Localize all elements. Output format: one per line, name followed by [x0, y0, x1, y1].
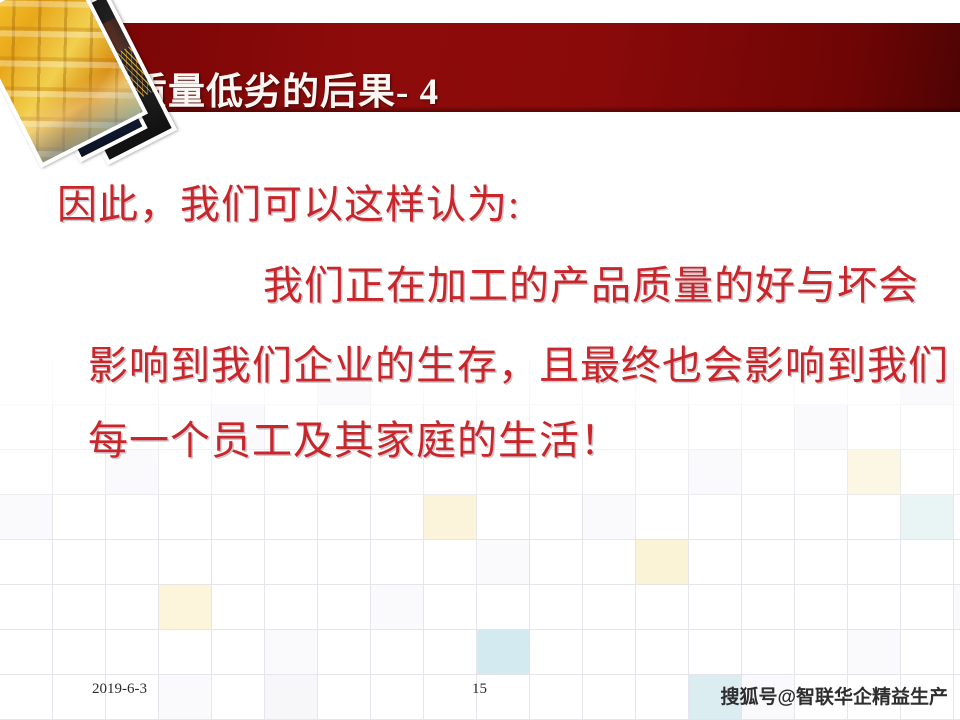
mosaic-cell [795, 135, 848, 180]
body-line-4: 每一个员工及其家庭的生活！ [88, 408, 621, 466]
mosaic-cell [530, 495, 583, 540]
mosaic-cell [159, 585, 212, 630]
mosaic-cell [159, 540, 212, 585]
mosaic-cell [689, 495, 742, 540]
mosaic-cell [689, 540, 742, 585]
mosaic-cell [0, 585, 53, 630]
mosaic-cell [901, 135, 954, 180]
mosaic-cell [106, 270, 159, 315]
mosaic-cell [954, 540, 960, 585]
body-line-1: 因此，我们可以这样认为: [57, 172, 520, 230]
mosaic-cell [159, 270, 212, 315]
mosaic-cell [742, 135, 795, 180]
mosaic-cell [0, 270, 53, 315]
mosaic-cell [424, 675, 477, 720]
mosaic-cell [954, 135, 960, 180]
mosaic-cell [795, 540, 848, 585]
photo-collage-decoration [0, 0, 204, 160]
mosaic-cell [689, 135, 742, 180]
mosaic-cell [530, 135, 583, 180]
mosaic-cell [0, 495, 53, 540]
mosaic-cell [318, 495, 371, 540]
mosaic-cell [371, 630, 424, 675]
mosaic-cell [212, 495, 265, 540]
mosaic-cell [848, 135, 901, 180]
mosaic-cell [424, 630, 477, 675]
mosaic-cell [583, 540, 636, 585]
mosaic-cell [106, 630, 159, 675]
mosaic-cell [954, 630, 960, 675]
mosaic-cell [742, 180, 795, 225]
mosaic-cell [106, 225, 159, 270]
mosaic-cell [689, 405, 742, 450]
mosaic-cell [106, 585, 159, 630]
body-line-3: 影响到我们企业的生存，且最终也会影响到我们 [88, 333, 949, 391]
mosaic-cell [318, 540, 371, 585]
mosaic-cell [795, 630, 848, 675]
mosaic-cell [0, 405, 53, 450]
mosaic-cell [954, 495, 960, 540]
mosaic-cell [530, 675, 583, 720]
mosaic-cell [53, 540, 106, 585]
mosaic-cell [53, 495, 106, 540]
mosaic-cell [0, 630, 53, 675]
mosaic-cell [212, 225, 265, 270]
mosaic-cell [53, 270, 106, 315]
mosaic-cell [530, 540, 583, 585]
mosaic-cell [848, 450, 901, 495]
mosaic-cell [371, 495, 424, 540]
mosaic-cell [371, 585, 424, 630]
mosaic-cell [795, 585, 848, 630]
mosaic-cell [530, 630, 583, 675]
mosaic-cell [212, 585, 265, 630]
mosaic-cell [795, 495, 848, 540]
mosaic-cell [583, 135, 636, 180]
mosaic-cell [636, 180, 689, 225]
mosaic-cell [901, 180, 954, 225]
mosaic-cell [901, 630, 954, 675]
mosaic-cell [371, 675, 424, 720]
mosaic-cell [689, 450, 742, 495]
mosaic-cell [954, 270, 960, 315]
mosaic-cell [636, 405, 689, 450]
mosaic-cell [106, 540, 159, 585]
mosaic-cell [53, 585, 106, 630]
mosaic-cell [954, 405, 960, 450]
mosaic-cell [212, 270, 265, 315]
mosaic-cell [265, 495, 318, 540]
mosaic-cell [636, 450, 689, 495]
mosaic-cell [159, 225, 212, 270]
footer-date: 2019-6-3 [92, 681, 147, 698]
mosaic-cell [636, 135, 689, 180]
mosaic-cell [106, 495, 159, 540]
mosaic-cell [742, 630, 795, 675]
mosaic-cell [742, 585, 795, 630]
mosaic-cell [954, 180, 960, 225]
mosaic-cell [901, 585, 954, 630]
mosaic-cell [159, 495, 212, 540]
mosaic-cell [954, 675, 960, 720]
watermark-text: 搜狐号@智联华企精益生产 [720, 682, 948, 709]
mosaic-cell [159, 630, 212, 675]
mosaic-cell [212, 540, 265, 585]
footer-page-number: 15 [472, 681, 487, 698]
mosaic-cell [477, 540, 530, 585]
mosaic-cell [265, 675, 318, 720]
mosaic-cell [424, 540, 477, 585]
mosaic-cell [53, 225, 106, 270]
mosaic-cell [742, 450, 795, 495]
mosaic-cell [0, 315, 53, 360]
mosaic-cell [0, 450, 53, 495]
mosaic-cell [954, 225, 960, 270]
mosaic-cell [689, 585, 742, 630]
slide-root: 质量低劣的后果- 4 因此，我们可以这样认为: 我们正在加工的产品质量的好与坏会… [0, 0, 960, 720]
mosaic-cell [848, 180, 901, 225]
mosaic-cell [636, 675, 689, 720]
mosaic-cell [848, 495, 901, 540]
mosaic-cell [689, 180, 742, 225]
mosaic-cell [212, 630, 265, 675]
mosaic-cell [530, 585, 583, 630]
mosaic-cell [954, 360, 960, 405]
mosaic-cell [212, 675, 265, 720]
mosaic-cell [901, 495, 954, 540]
mosaic-cell [848, 405, 901, 450]
mosaic-cell [636, 630, 689, 675]
mosaic-cell [901, 450, 954, 495]
mosaic-cell [159, 675, 212, 720]
mosaic-cell [954, 585, 960, 630]
mosaic-cell [0, 180, 53, 225]
mosaic-cell [0, 225, 53, 270]
mosaic-cell [318, 675, 371, 720]
mosaic-cell [318, 585, 371, 630]
body-line-2: 我们正在加工的产品质量的好与坏会 [263, 253, 919, 311]
mosaic-cell [583, 585, 636, 630]
mosaic-cell [265, 585, 318, 630]
mosaic-cell [583, 675, 636, 720]
mosaic-cell [848, 585, 901, 630]
mosaic-cell [477, 585, 530, 630]
mosaic-cell [477, 495, 530, 540]
mosaic-cell [530, 180, 583, 225]
mosaic-cell [742, 495, 795, 540]
mosaic-cell [583, 180, 636, 225]
mosaic-cell [0, 360, 53, 405]
mosaic-cell [265, 540, 318, 585]
mosaic-cell [901, 405, 954, 450]
mosaic-cell [583, 630, 636, 675]
mosaic-cell [795, 405, 848, 450]
mosaic-cell [954, 450, 960, 495]
mosaic-cell [742, 405, 795, 450]
mosaic-cell [318, 630, 371, 675]
mosaic-cell [689, 630, 742, 675]
mosaic-cell [424, 585, 477, 630]
mosaic-cell [0, 675, 53, 720]
mosaic-cell [848, 540, 901, 585]
mosaic-cell [742, 540, 795, 585]
mosaic-cell [0, 540, 53, 585]
mosaic-cell [583, 495, 636, 540]
mosaic-cell [636, 585, 689, 630]
mosaic-cell [954, 315, 960, 360]
mosaic-cell [424, 495, 477, 540]
mosaic-cell [636, 495, 689, 540]
mosaic-cell [848, 630, 901, 675]
mosaic-cell [636, 540, 689, 585]
mosaic-cell [901, 540, 954, 585]
mosaic-cell [265, 630, 318, 675]
mosaic-cell [477, 630, 530, 675]
mosaic-cell [795, 450, 848, 495]
mosaic-cell [795, 180, 848, 225]
mosaic-cell [371, 540, 424, 585]
mosaic-cell [53, 630, 106, 675]
